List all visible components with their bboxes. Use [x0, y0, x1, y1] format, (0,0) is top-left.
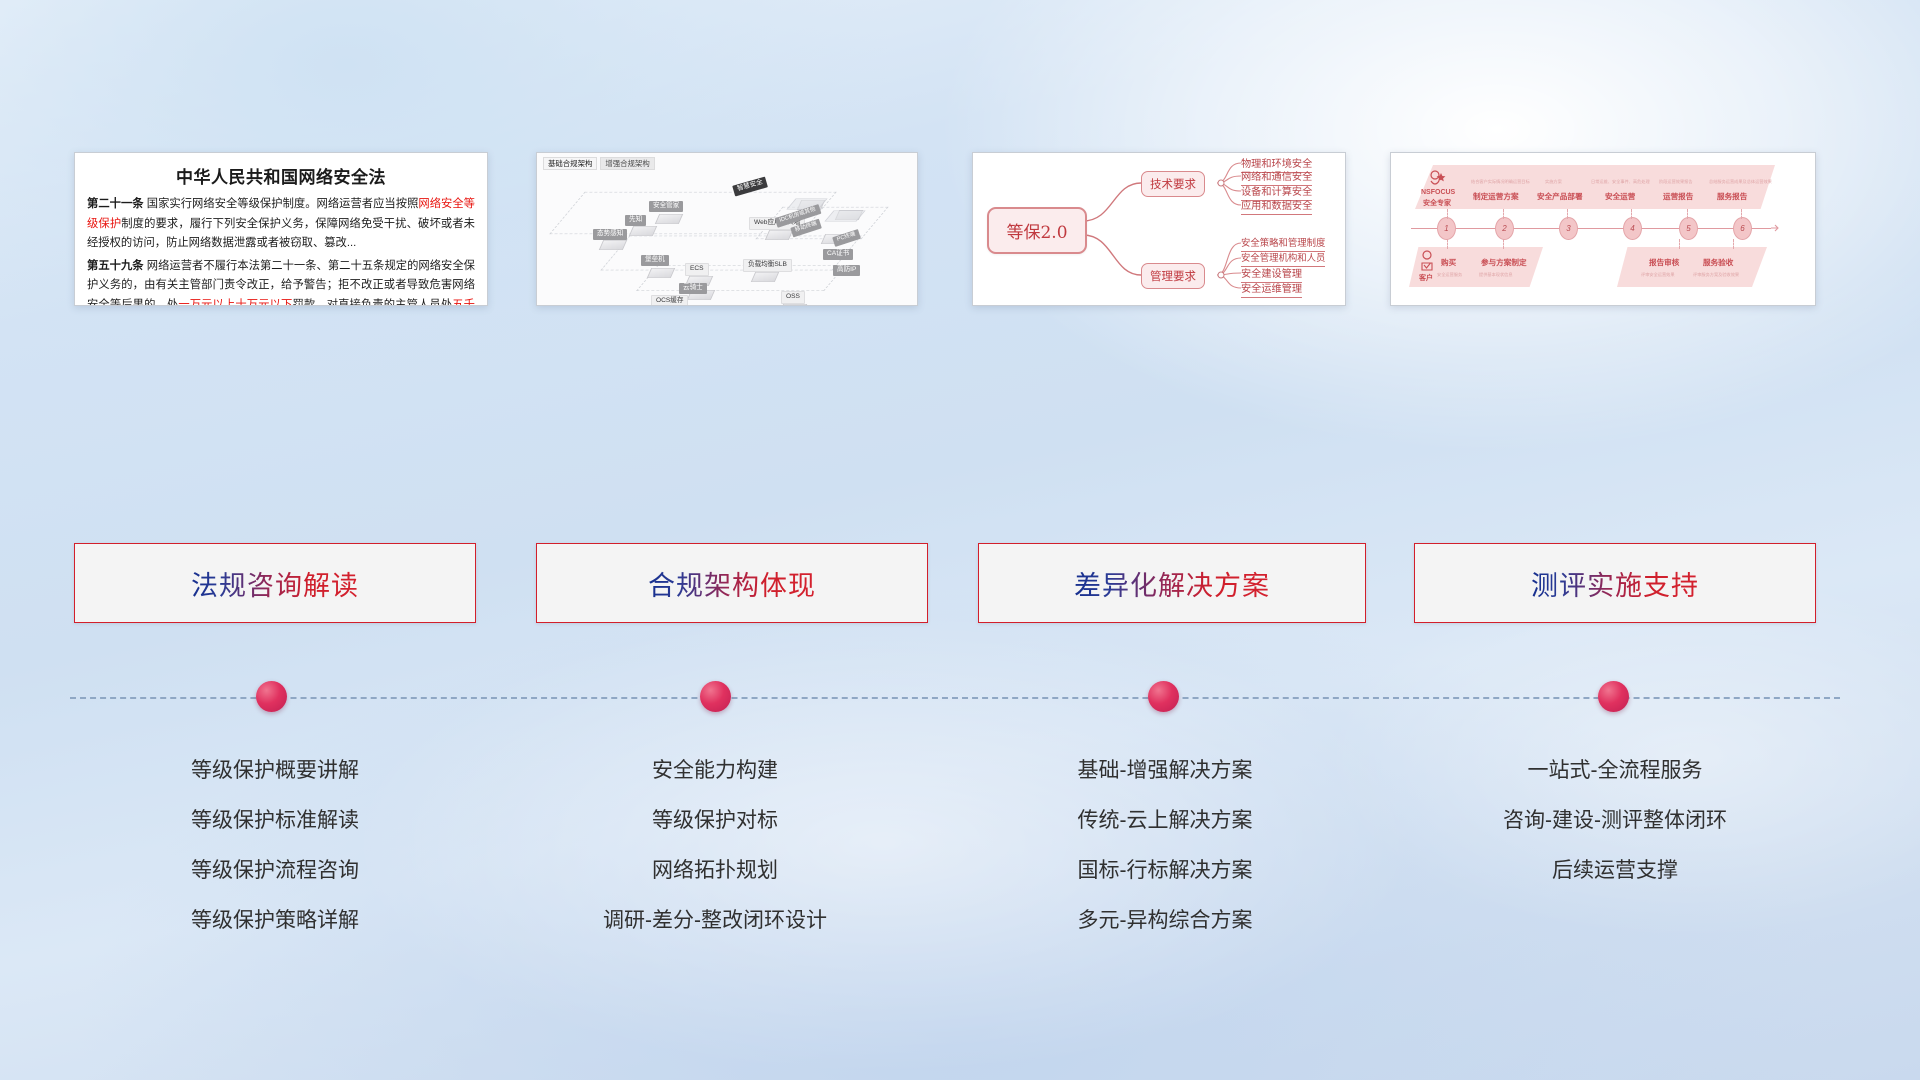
nsfocus-bottom-step-3-sub: 评审安全运营效果 [1641, 272, 1675, 278]
card-nsfocus-timeline[interactable]: NSFOCUS 安全专家 客户 制定运营方案 结合客户实际情况明确运营目标 安全… [1390, 152, 1816, 306]
law-title: 中华人民共和国网络安全法 [87, 163, 475, 188]
architecture-tab-basic[interactable]: 基础合规架构 [543, 157, 597, 170]
nsfocus-bottom-step-4: 服务验收 [1703, 257, 1733, 268]
card-architecture-diagram[interactable]: 基础合规架构 增强合规架构 [536, 152, 918, 306]
mindmap-canvas: 等保2.0 技术要求 管理要求 物理和环境安全 网络和通信安全 设备和计算安全 … [973, 153, 1345, 305]
law-article-21: 第二十一条 国家实行网络安全等级保护制度。网络运营者应当按照网络安全等级保护制度… [87, 195, 475, 254]
nsfocus-conn-2 [1503, 209, 1505, 219]
node-ecs: ECS [685, 263, 709, 276]
nsfocus-top-step-1: 制定运营方案 [1473, 191, 1519, 202]
nsfocus-conn-4 [1631, 209, 1633, 219]
nsfocus-bottom-step-2-sub: 提供基本现状信息 [1479, 272, 1513, 278]
nsfocus-conn-3 [1567, 209, 1569, 219]
nsfocus-axis [1411, 228, 1771, 229]
law-article-59-highlight-1: 一万元以上十万元以下 [178, 299, 292, 307]
section-items-3: 基础-增强解决方案 传统-云上解决方案 国标-行标解决方案 多元-异构综合方案 [945, 746, 1385, 946]
node-gaofang-ip: 高防IP [833, 265, 860, 276]
law-article-59-label: 第五十九条 [87, 260, 144, 272]
list-item: 多元-异构综合方案 [945, 896, 1385, 946]
node-slb: 负载均衡SLB [743, 259, 792, 272]
icon-box-tsgz [599, 240, 627, 250]
list-item: 一站式-全流程服务 [1400, 746, 1830, 796]
icon-box-waf [765, 230, 793, 240]
nsfocus-dot-1: 1 [1437, 217, 1456, 240]
node-anquan-guanjia: 安全管家 [649, 201, 683, 212]
timeline-line [70, 697, 1840, 699]
nsfocus-top-step-2: 安全产品部署 [1537, 191, 1583, 202]
list-item: 网络拓扑规划 [500, 846, 930, 896]
list-item: 等级保护流程咨询 [60, 846, 490, 896]
nsfocus-dot-6: 6 [1733, 217, 1752, 240]
slide-stage: 中华人民共和国网络安全法 第二十一条 国家实行网络安全等级保护制度。网络运营者应… [0, 0, 1920, 1080]
nsfocus-canvas: NSFOCUS 安全专家 客户 制定运营方案 结合客户实际情况明确运营目标 安全… [1391, 153, 1815, 305]
node-ca-cert: CA证书 [823, 249, 853, 260]
nsfocus-expert-sub: 安全专家 [1423, 198, 1451, 208]
nsfocus-top-step-3: 安全运营 [1605, 191, 1635, 202]
nsfocus-top-step-3-sub: 日常运维、安全事件、高危处理 [1591, 179, 1650, 185]
nsfocus-customer-label: 客户 [1419, 273, 1433, 283]
section-items-2: 安全能力构建 等级保护对标 网络拓扑规划 调研-差分-整改闭环设计 [500, 746, 930, 946]
icon-box-slb [751, 272, 779, 282]
nsfocus-top-step-1-sub: 结合客户实际情况明确运营目标 [1471, 179, 1530, 185]
section-heading-1: 法规咨询解读 [191, 564, 359, 603]
section-heading-4: 测评实施支持 [1531, 564, 1699, 603]
nsfocus-conn-b3 [1679, 239, 1681, 249]
section-heading-3: 差异化解决方案 [1074, 564, 1270, 603]
nsfocus-top-step-4: 运营报告 [1663, 191, 1693, 202]
law-body: 中华人民共和国网络安全法 第二十一条 国家实行网络安全等级保护制度。网络运营者应… [75, 153, 487, 305]
section-items-4: 一站式-全流程服务 咨询-建设-测评整体闭环 后续运营支撑 [1400, 746, 1830, 896]
mindmap-leaf-ops: 安全运维管理 [1241, 280, 1302, 298]
list-item: 调研-差分-整改闭环设计 [500, 896, 930, 946]
nsfocus-dot-5: 5 [1679, 217, 1698, 240]
card-mindmap[interactable]: 等保2.0 技术要求 管理要求 物理和环境安全 网络和通信安全 设备和计算安全 … [972, 152, 1346, 306]
list-item: 后续运营支撑 [1400, 846, 1830, 896]
mindmap-leaf-application: 应用和数据安全 [1241, 197, 1312, 215]
nsfocus-bottom-step-4-sub: 评审服务方案及验收效果 [1693, 272, 1739, 278]
mindmap-branch-technical[interactable]: 技术要求 [1141, 171, 1205, 197]
nsfocus-expert-name: NSFOCUS [1421, 189, 1455, 196]
nsfocus-dot-4: 4 [1623, 217, 1642, 240]
list-item: 等级保护标准解读 [60, 796, 490, 846]
law-article-21-text-b: 制度的要求，履行下列安全保护义务，保障网络免受干扰、破坏或者未经授权的访问，防止… [87, 218, 475, 250]
nsfocus-top-step-2-sub: 实施方案 [1545, 179, 1562, 185]
section-heading-2: 合规架构体现 [648, 564, 816, 603]
mindmap-core-node[interactable]: 等保2.0 [987, 207, 1087, 254]
node-yunqishi: 云骑士 [679, 283, 707, 294]
timeline-dot-3 [1148, 681, 1179, 712]
icon-box-blj [647, 268, 675, 278]
nsfocus-dot-3: 3 [1559, 217, 1578, 240]
timeline-dot-4 [1598, 681, 1629, 712]
nsfocus-conn-b2 [1503, 239, 1505, 249]
section-heading-box-4[interactable]: 测评实施支持 [1414, 543, 1816, 623]
nsfocus-top-step-5-sub: 总结服务运营成果及总体运营效果 [1709, 179, 1772, 185]
nsfocus-top-step-4-sub: 阶段运营效果报告 [1659, 179, 1693, 185]
nsfocus-dot-2: 2 [1495, 217, 1514, 240]
nsfocus-bottom-step-3: 报告审核 [1649, 257, 1679, 268]
nsfocus-conn-1 [1447, 209, 1449, 219]
icon-box-oss [779, 304, 807, 306]
section-heading-box-3[interactable]: 差异化解决方案 [978, 543, 1366, 623]
node-xianzhi: 先知 [625, 215, 646, 226]
nsfocus-conn-6 [1741, 209, 1743, 219]
law-article-21-label: 第二十一条 [87, 198, 144, 210]
law-article-21-text-a: 国家实行网络安全等级保护制度。网络运营者应当按照 [144, 198, 419, 210]
list-item: 国标-行标解决方案 [945, 846, 1385, 896]
icon-box-xz [629, 226, 657, 236]
nsfocus-conn-b1 [1447, 239, 1449, 249]
law-article-59-text-b: 罚款，对直接负责的主管人员处 [292, 299, 452, 307]
section-items-1: 等级保护概要讲解 等级保护标准解读 等级保护流程咨询 等级保护策略详解 [60, 746, 490, 946]
list-item: 等级保护策略详解 [60, 896, 490, 946]
architecture-tab-enhanced[interactable]: 增强合规架构 [600, 157, 654, 170]
node-taishi-ganzhi: 态势感知 [593, 229, 627, 240]
list-item: 等级保护概要讲解 [60, 746, 490, 796]
list-item: 等级保护对标 [500, 796, 930, 846]
timeline-dot-2 [700, 681, 731, 712]
nsfocus-top-step-5: 服务报告 [1717, 191, 1747, 202]
list-item: 咨询-建设-测评整体闭环 [1400, 796, 1830, 846]
nsfocus-bottom-step-2: 参与方案制定 [1481, 257, 1527, 268]
node-oss: OSS [781, 291, 805, 304]
list-item: 基础-增强解决方案 [945, 746, 1385, 796]
law-article-59: 第五十九条 网络运营者不履行本法第二十一条、第二十五条规定的网络安全保护义务的，… [87, 257, 475, 307]
nsfocus-bottom-step-1: 购买 [1441, 257, 1456, 268]
architecture-tabs[interactable]: 基础合规架构 增强合规架构 [543, 157, 655, 170]
architecture-canvas: 基础合规架构 增强合规架构 [537, 153, 917, 305]
list-item: 传统-云上解决方案 [945, 796, 1385, 846]
nsfocus-conn-b4 [1733, 239, 1735, 249]
card-law-text[interactable]: 中华人民共和国网络安全法 第二十一条 国家实行网络安全等级保护制度。网络运营者应… [74, 152, 488, 306]
section-heading-box-2[interactable]: 合规架构体现 [536, 543, 928, 623]
timeline-dot-1 [256, 681, 287, 712]
mindmap-branch-management[interactable]: 管理要求 [1141, 263, 1205, 289]
node-ocs-cache: OCS缓存 [651, 295, 688, 306]
nsfocus-conn-5 [1687, 209, 1689, 219]
section-heading-box-1[interactable]: 法规咨询解读 [74, 543, 476, 623]
nsfocus-bottom-step-1-sub: 安全运营服务 [1437, 272, 1462, 278]
icon-box-aqgj [655, 214, 683, 224]
list-item: 安全能力构建 [500, 746, 930, 796]
node-baoleiji: 堡垒机 [641, 255, 669, 266]
